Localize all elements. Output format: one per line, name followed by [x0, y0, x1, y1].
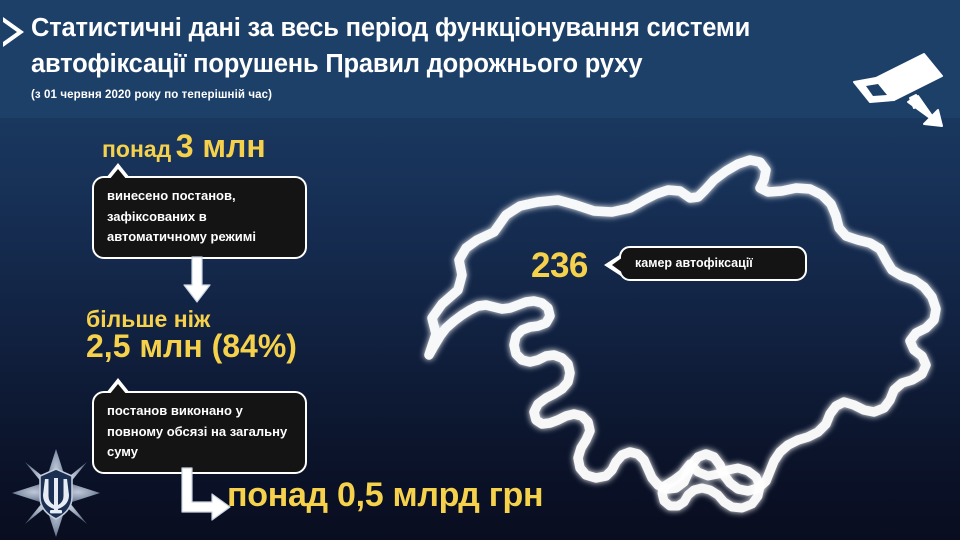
cameras-count: 236 — [531, 247, 588, 284]
cameras-callout: камер автофіксації — [619, 246, 807, 281]
callout-tail-up-fill-icon — [109, 169, 127, 180]
stat-1-callout: винесено постанов, зафіксованих в автома… — [92, 176, 307, 259]
cameras-label: камер автофіксації — [635, 256, 753, 270]
ukraine-map-outline — [398, 112, 960, 532]
header-bar: Статистичні дані за весь період функціон… — [0, 0, 960, 118]
stat-2-value: 2,5 млн (84%) — [86, 330, 297, 364]
page-title: Статистичні дані за весь період функціон… — [31, 10, 901, 82]
stat-2-description: постанов виконано у повному обсязі на за… — [107, 403, 287, 459]
callout-tail-up-fill-icon — [109, 384, 127, 395]
callout-tail-left-fill-icon — [612, 257, 623, 273]
play-triangle-icon — [3, 17, 24, 47]
stat-1-value: 3 млн — [176, 128, 266, 164]
arrow-elbow-right-icon — [178, 466, 232, 524]
stat-1-figure: понад 3 млн — [102, 130, 266, 164]
stat-1-description: винесено постанов, зафіксованих в автома… — [107, 188, 256, 244]
infographic-root: Статистичні дані за весь період функціон… — [0, 0, 960, 540]
stat-2-callout: постанов виконано у повному обсязі на за… — [92, 391, 307, 474]
arrow-down-icon — [182, 256, 212, 304]
page-subtitle: (з 01 червня 2020 року по теперішній час… — [31, 89, 272, 101]
national-police-emblem — [10, 447, 102, 539]
stat-1-prefix: понад — [102, 136, 171, 162]
stat-2-figure: більше ніж 2,5 млн (84%) — [86, 307, 297, 364]
